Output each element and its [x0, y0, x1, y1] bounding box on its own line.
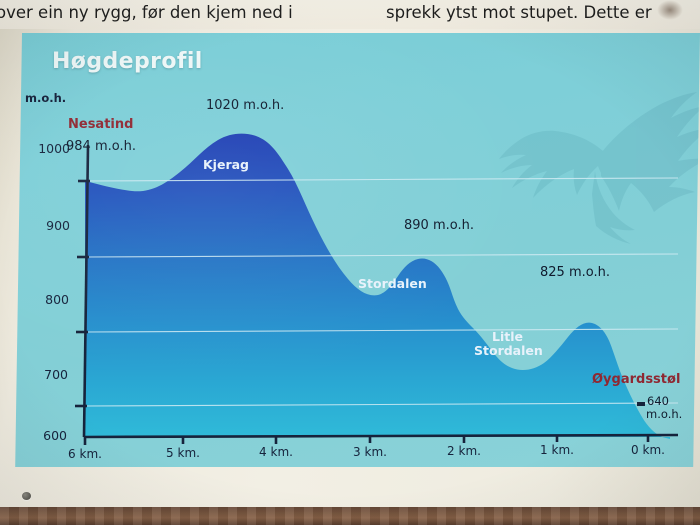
x-tick-0km: 0 km. [618, 443, 678, 457]
sign-screw [22, 492, 31, 500]
x-tick-5km: 5 km. [153, 446, 213, 460]
label-nesatind: Nesatind [68, 117, 133, 132]
photo-smudge [657, 0, 683, 20]
x-tick-2km: 2 km. [434, 444, 494, 458]
top-text-left-column: over ein ny rygg, før den kjem ned i [0, 3, 293, 22]
label-1020-moh: 1020 m.o.h. [206, 98, 284, 113]
label-oygardsstol: Øygardsstøl [592, 372, 680, 387]
y-axis-caption: m.o.h. [25, 91, 66, 105]
label-litle-stordalen-line1: Litle [492, 329, 523, 344]
wooden-ledge [0, 507, 700, 525]
x-tick-3km: 3 km. [340, 445, 400, 459]
plot-area: m.o.h. 1000 900 800 700 600 6 km. 5 km. … [22, 33, 700, 467]
y-tick-600: 600 [23, 428, 67, 443]
label-litle-stordalen-line2: Stordalen [474, 343, 543, 358]
label-640-unit: m.o.h. [646, 408, 682, 421]
x-tick-1km: 1 km. [527, 443, 587, 457]
elevation-profile-panel: Høgdeprofil [15, 33, 700, 467]
signboard-photo: over ein ny rygg, før den kjem ned i spr… [0, 0, 700, 525]
elevation-profile-chart [22, 33, 700, 467]
label-825-moh: 825 m.o.h. [540, 265, 610, 280]
y-tick-1000: 1000 [26, 141, 70, 156]
y-tick-900: 900 [26, 218, 70, 233]
y-tick-700: 700 [24, 367, 68, 382]
label-984-moh: 984 m.o.h. [66, 139, 136, 154]
sign-top-text-strip: over ein ny rygg, før den kjem ned i spr… [0, 0, 700, 29]
label-890-moh: 890 m.o.h. [404, 218, 474, 233]
label-kjerag: Kjerag [203, 157, 249, 172]
x-tick-4km: 4 km. [246, 445, 306, 459]
x-tick-6km: 6 km. [55, 447, 115, 461]
end-elevation-marker [637, 402, 645, 406]
y-tick-800: 800 [25, 292, 69, 307]
label-stordalen: Stordalen [358, 276, 427, 291]
top-text-right-column: sprekk ytst mot stupet. Dette er [386, 3, 652, 22]
